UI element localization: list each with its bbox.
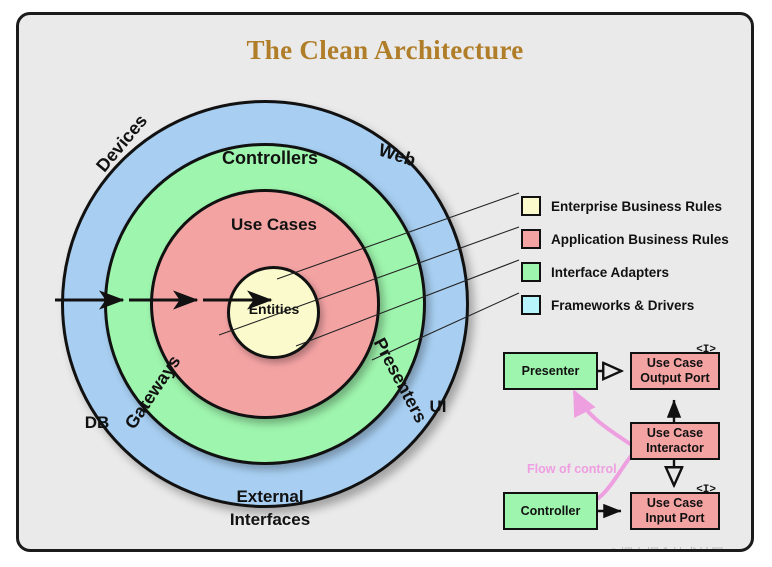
flow-box-use-case-output-port: <I> Use Case Output Port	[630, 352, 720, 390]
interface-marker-output-port: <I>	[696, 345, 716, 356]
legend-swatch-application	[521, 229, 541, 249]
ring-label-use-cases: Use Cases	[209, 215, 339, 235]
legend-label-interface: Interface Adapters	[551, 265, 669, 280]
watermark: @掘上掘金技术社区	[607, 543, 724, 552]
flow-box-controller-label: Controller	[521, 504, 581, 519]
legend-item-enterprise: Enterprise Business Rules	[521, 193, 729, 219]
ring-label-controllers: Controllers	[195, 148, 345, 169]
legend-label-frameworks: Frameworks & Drivers	[551, 298, 694, 313]
flow-box-interactor-line1: Use Case	[647, 426, 703, 441]
flow-box-output-port-line1: Use Case	[647, 356, 703, 371]
ring-label-external-interfaces-line2: Interfaces	[205, 510, 335, 530]
flow-box-presenter: Presenter	[503, 352, 598, 390]
legend-item-application: Application Business Rules	[521, 226, 729, 252]
flow-box-output-port-line2: Output Port	[640, 371, 709, 386]
diagram-canvas: The Clean Architecture Devices Web DB UI…	[0, 0, 772, 567]
legend-item-frameworks: Frameworks & Drivers	[521, 292, 729, 318]
interface-marker-input-port: <I>	[696, 485, 716, 496]
ring-label-entities: Entities	[229, 301, 319, 317]
legend: Enterprise Business Rules Application Bu…	[521, 193, 729, 325]
ring-label-external-interfaces-line1: External	[205, 487, 335, 507]
flow-box-use-case-interactor: Use Case Interactor	[630, 422, 720, 460]
flow-box-interactor-line2: Interactor	[646, 441, 704, 456]
flow-box-input-port-line1: Use Case	[647, 496, 703, 511]
legend-item-interface: Interface Adapters	[521, 259, 729, 285]
legend-label-enterprise: Enterprise Business Rules	[551, 199, 722, 214]
diagram-frame: The Clean Architecture Devices Web DB UI…	[16, 12, 754, 552]
flow-box-presenter-label: Presenter	[522, 364, 580, 379]
page-title: The Clean Architecture	[19, 35, 751, 66]
legend-label-application: Application Business Rules	[551, 232, 729, 247]
flow-of-control-label: Flow of control	[527, 462, 617, 476]
flow-box-input-port-line2: Input Port	[645, 511, 704, 526]
flow-box-use-case-input-port: <I> Use Case Input Port	[630, 492, 720, 530]
flow-box-controller: Controller	[503, 492, 598, 530]
legend-swatch-enterprise	[521, 196, 541, 216]
legend-swatch-frameworks	[521, 295, 541, 315]
legend-swatch-interface	[521, 262, 541, 282]
